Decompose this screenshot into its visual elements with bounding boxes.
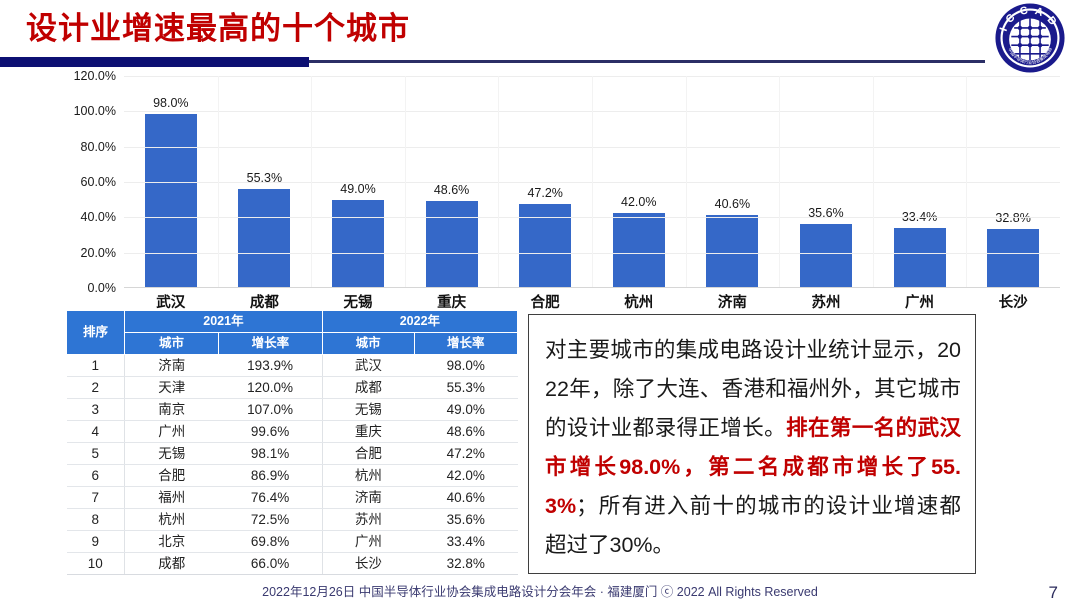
chart-vertical-gridline (966, 76, 967, 287)
x-axis-category-label: 长沙 (966, 291, 1060, 312)
iccad-logo: I C C A D 中国半导体行业协会集成电路设计分会 (994, 2, 1066, 74)
table-cell-rate: 72.5% (218, 509, 322, 531)
table-cell-city2: 杭州 (322, 465, 414, 487)
table-header-rank: 排序 (67, 311, 125, 355)
x-axis-category-label: 广州 (873, 291, 967, 312)
table-cell-rank: 7 (67, 487, 125, 509)
table-cell-city: 福州 (125, 487, 219, 509)
table-cell-city2: 长沙 (322, 553, 414, 575)
chart-vertical-gridline (873, 76, 874, 287)
table-cell-rank: 10 (67, 553, 125, 575)
x-axis-category-label: 济南 (686, 291, 780, 312)
chart-bar (426, 201, 478, 287)
chart-bar (894, 228, 946, 287)
y-axis-tick-label: 60.0% (81, 175, 116, 189)
table-cell-city2: 重庆 (322, 421, 414, 443)
table-cell-rate2: 33.4% (414, 531, 517, 553)
table-cell-rank: 9 (67, 531, 125, 553)
table-cell-rate: 86.9% (218, 465, 322, 487)
table-cell-city: 无锡 (125, 443, 219, 465)
iccad-logo-icon: I C C A D 中国半导体行业协会集成电路设计分会 (994, 2, 1066, 74)
growth-bar-chart: 0.0%20.0%40.0%60.0%80.0%100.0%120.0% 98.… (60, 76, 1060, 288)
y-axis-tick-label: 80.0% (81, 140, 116, 154)
table-cell-city: 广州 (125, 421, 219, 443)
table-cell-rate2: 40.6% (414, 487, 517, 509)
table-cell-rank: 4 (67, 421, 125, 443)
chart-bar (145, 114, 197, 287)
title-rule-thick (0, 57, 309, 67)
table-sub-header-row: 城市 增长率 城市 增长率 (67, 333, 518, 355)
chart-plot-area: 98.0%55.3%49.0%48.6%47.2%42.0%40.6%35.6%… (124, 76, 1060, 288)
bar-value-label: 47.2% (498, 186, 592, 200)
chart-bar (238, 189, 290, 287)
table-cell-city: 杭州 (125, 509, 219, 531)
table-cell-rank: 5 (67, 443, 125, 465)
y-axis-tick-label: 100.0% (74, 104, 116, 118)
table-cell-rank: 2 (67, 377, 125, 399)
table-row: 8杭州72.5%苏州35.6% (67, 509, 518, 531)
table-cell-city2: 武汉 (322, 355, 414, 377)
chart-y-axis: 0.0%20.0%40.0%60.0%80.0%100.0%120.0% (60, 76, 122, 288)
x-axis-category-label: 苏州 (779, 291, 873, 312)
table-group-header-row: 排序 2021年 2022年 (67, 311, 518, 333)
chart-vertical-gridline (686, 76, 687, 287)
table-row: 3南京107.0%无锡49.0% (67, 399, 518, 421)
table-cell-rate: 107.0% (218, 399, 322, 421)
table-cell-rank: 3 (67, 399, 125, 421)
y-axis-tick-label: 0.0% (88, 281, 117, 295)
table-cell-rate2: 98.0% (414, 355, 517, 377)
bar-value-label: 40.6% (686, 197, 780, 211)
table-cell-rate: 193.9% (218, 355, 322, 377)
table-cell-rate: 69.8% (218, 531, 322, 553)
table-cell-city2: 广州 (322, 531, 414, 553)
table-cell-rate: 120.0% (218, 377, 322, 399)
table-row: 9北京69.8%广州33.4% (67, 531, 518, 553)
bar-value-label: 42.0% (592, 195, 686, 209)
table-row: 5无锡98.1%合肥47.2% (67, 443, 518, 465)
x-axis-category-label: 杭州 (592, 291, 686, 312)
title-rule-thin (309, 60, 985, 63)
chart-vertical-gridline (405, 76, 406, 287)
chart-bar (519, 204, 571, 287)
x-axis-category-label: 合肥 (498, 291, 592, 312)
chart-bar (706, 215, 758, 287)
table-subheader-city-2022: 城市 (322, 333, 414, 355)
chart-bar (332, 200, 384, 287)
chart-bar (613, 213, 665, 287)
table-cell-rank: 8 (67, 509, 125, 531)
table-cell-rate2: 49.0% (414, 399, 517, 421)
table-cell-city2: 济南 (322, 487, 414, 509)
table-cell-rate2: 47.2% (414, 443, 517, 465)
table-cell-rate2: 48.6% (414, 421, 517, 443)
table-row: 2天津120.0%成都55.3% (67, 377, 518, 399)
commentary-box: 对主要城市的集成电路设计业统计显示，2022年，除了大连、香港和福州外，其它城市… (528, 314, 976, 574)
bar-value-label: 49.0% (311, 182, 405, 196)
table-header-2022: 2022年 (322, 311, 517, 333)
page-title: 设计业增速最高的十个城市 (26, 8, 410, 50)
table-row: 6合肥86.9%杭州42.0% (67, 465, 518, 487)
table-cell-rate: 66.0% (218, 553, 322, 575)
y-axis-tick-label: 40.0% (81, 210, 116, 224)
table-cell-city2: 无锡 (322, 399, 414, 421)
table-row: 1济南193.9%武汉98.0% (67, 355, 518, 377)
table-cell-city: 南京 (125, 399, 219, 421)
y-axis-tick-label: 120.0% (74, 69, 116, 83)
table-cell-rate2: 32.8% (414, 553, 517, 575)
table-cell-city2: 成都 (322, 377, 414, 399)
table-header: 排序 2021年 2022年 城市 增长率 城市 增长率 (67, 311, 518, 355)
table-cell-rate: 98.1% (218, 443, 322, 465)
chart-vertical-gridline (218, 76, 219, 287)
chart-vertical-gridline (311, 76, 312, 287)
commentary-segment: ；所有进入前十的城市的设计业增速都超过了30%。 (545, 494, 961, 557)
bar-value-label: 48.6% (405, 183, 499, 197)
commentary-text: 对主要城市的集成电路设计业统计显示，2022年，除了大连、香港和福州外，其它城市… (545, 331, 961, 565)
table-cell-rate: 99.6% (218, 421, 322, 443)
chart-vertical-gridline (592, 76, 593, 287)
table-header-2021: 2021年 (125, 311, 323, 333)
x-axis-category-label: 成都 (218, 291, 312, 312)
table-row: 7福州76.4%济南40.6% (67, 487, 518, 509)
y-axis-tick-label: 20.0% (81, 246, 116, 260)
table-subheader-city-2021: 城市 (125, 333, 219, 355)
page-number: 7 (1049, 583, 1058, 603)
chart-bar (987, 229, 1039, 287)
slide-footer: 2022年12月26日 中国半导体行业协会集成电路设计分会年会 · 福建厦门 ⓒ… (0, 581, 1080, 600)
table-cell-rate: 76.4% (218, 487, 322, 509)
table-body: 1济南193.9%武汉98.0%2天津120.0%成都55.3%3南京107.0… (67, 355, 518, 575)
x-axis-category-label: 重庆 (405, 291, 499, 312)
table-cell-rate2: 35.6% (414, 509, 517, 531)
table-subheader-rate-2022: 增长率 (414, 333, 517, 355)
table-cell-city: 天津 (125, 377, 219, 399)
chart-bar (800, 224, 852, 287)
bar-value-label: 98.0% (124, 96, 218, 110)
chart-vertical-gridline (779, 76, 780, 287)
city-growth-table: 排序 2021年 2022年 城市 增长率 城市 增长率 1济南193.9%武汉… (66, 310, 518, 575)
table-cell-rate2: 42.0% (414, 465, 517, 487)
table-cell-rank: 6 (67, 465, 125, 487)
table-cell-city: 成都 (125, 553, 219, 575)
x-axis-category-label: 无锡 (311, 291, 405, 312)
table-subheader-rate-2021: 增长率 (218, 333, 322, 355)
table-cell-city2: 合肥 (322, 443, 414, 465)
table-cell-rate2: 55.3% (414, 377, 517, 399)
x-axis-category-label: 武汉 (124, 291, 218, 312)
table-row: 10成都66.0%长沙32.8% (67, 553, 518, 575)
table-cell-city: 合肥 (125, 465, 219, 487)
bar-value-label: 55.3% (218, 171, 312, 185)
table-cell-city: 济南 (125, 355, 219, 377)
table-cell-rank: 1 (67, 355, 125, 377)
table-row: 4广州99.6%重庆48.6% (67, 421, 518, 443)
table-cell-city: 北京 (125, 531, 219, 553)
chart-vertical-gridline (498, 76, 499, 287)
table-cell-city2: 苏州 (322, 509, 414, 531)
